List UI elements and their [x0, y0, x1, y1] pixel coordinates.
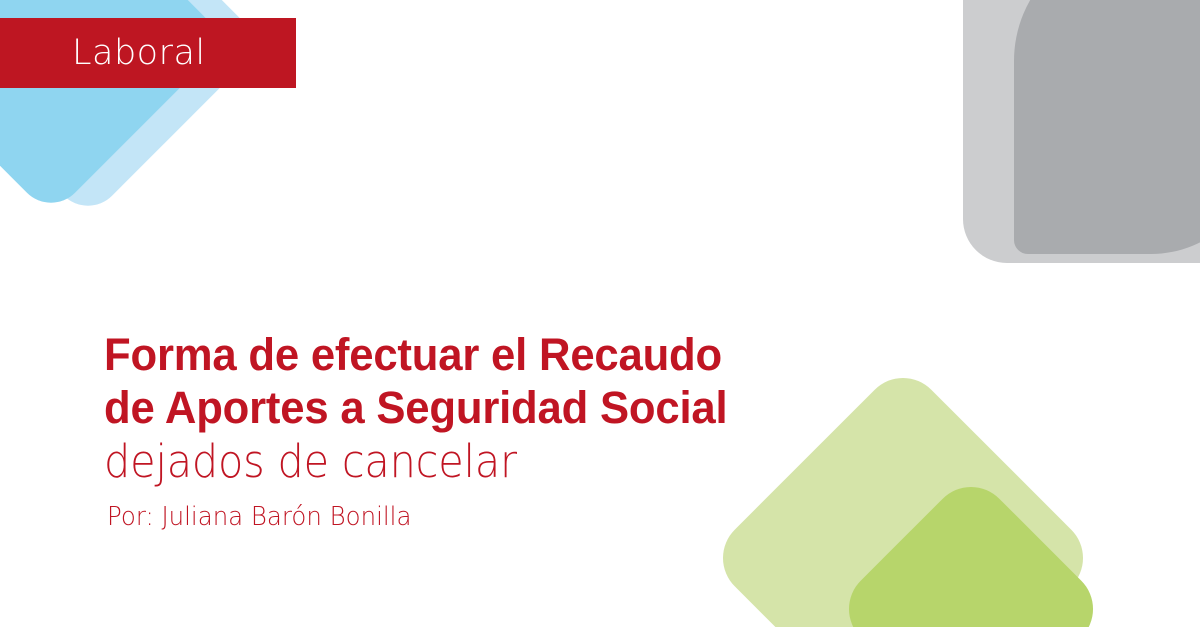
headline-line-1: Forma de efectuar el Recaudo [104, 328, 727, 381]
article-cover-poster: Laboral Forma de efectuar el Recaudo de … [0, 0, 1200, 627]
category-banner: Laboral [0, 18, 296, 88]
headline-line-2: de Aportes a Seguridad Social [104, 381, 727, 434]
green-rounded-diamond-back [706, 361, 1099, 627]
gray-rounded-square-outer [963, 0, 1200, 263]
author-byline: Por: Juliana Barón Bonilla [107, 500, 708, 534]
gray-arch-inner [1014, 0, 1200, 254]
headline-block: Forma de efectuar el Recaudo de Aportes … [104, 328, 747, 534]
category-label: Laboral [72, 36, 206, 71]
headline-subline: dejados de cancelar [104, 434, 695, 490]
green-rounded-diamond-front [832, 470, 1109, 627]
